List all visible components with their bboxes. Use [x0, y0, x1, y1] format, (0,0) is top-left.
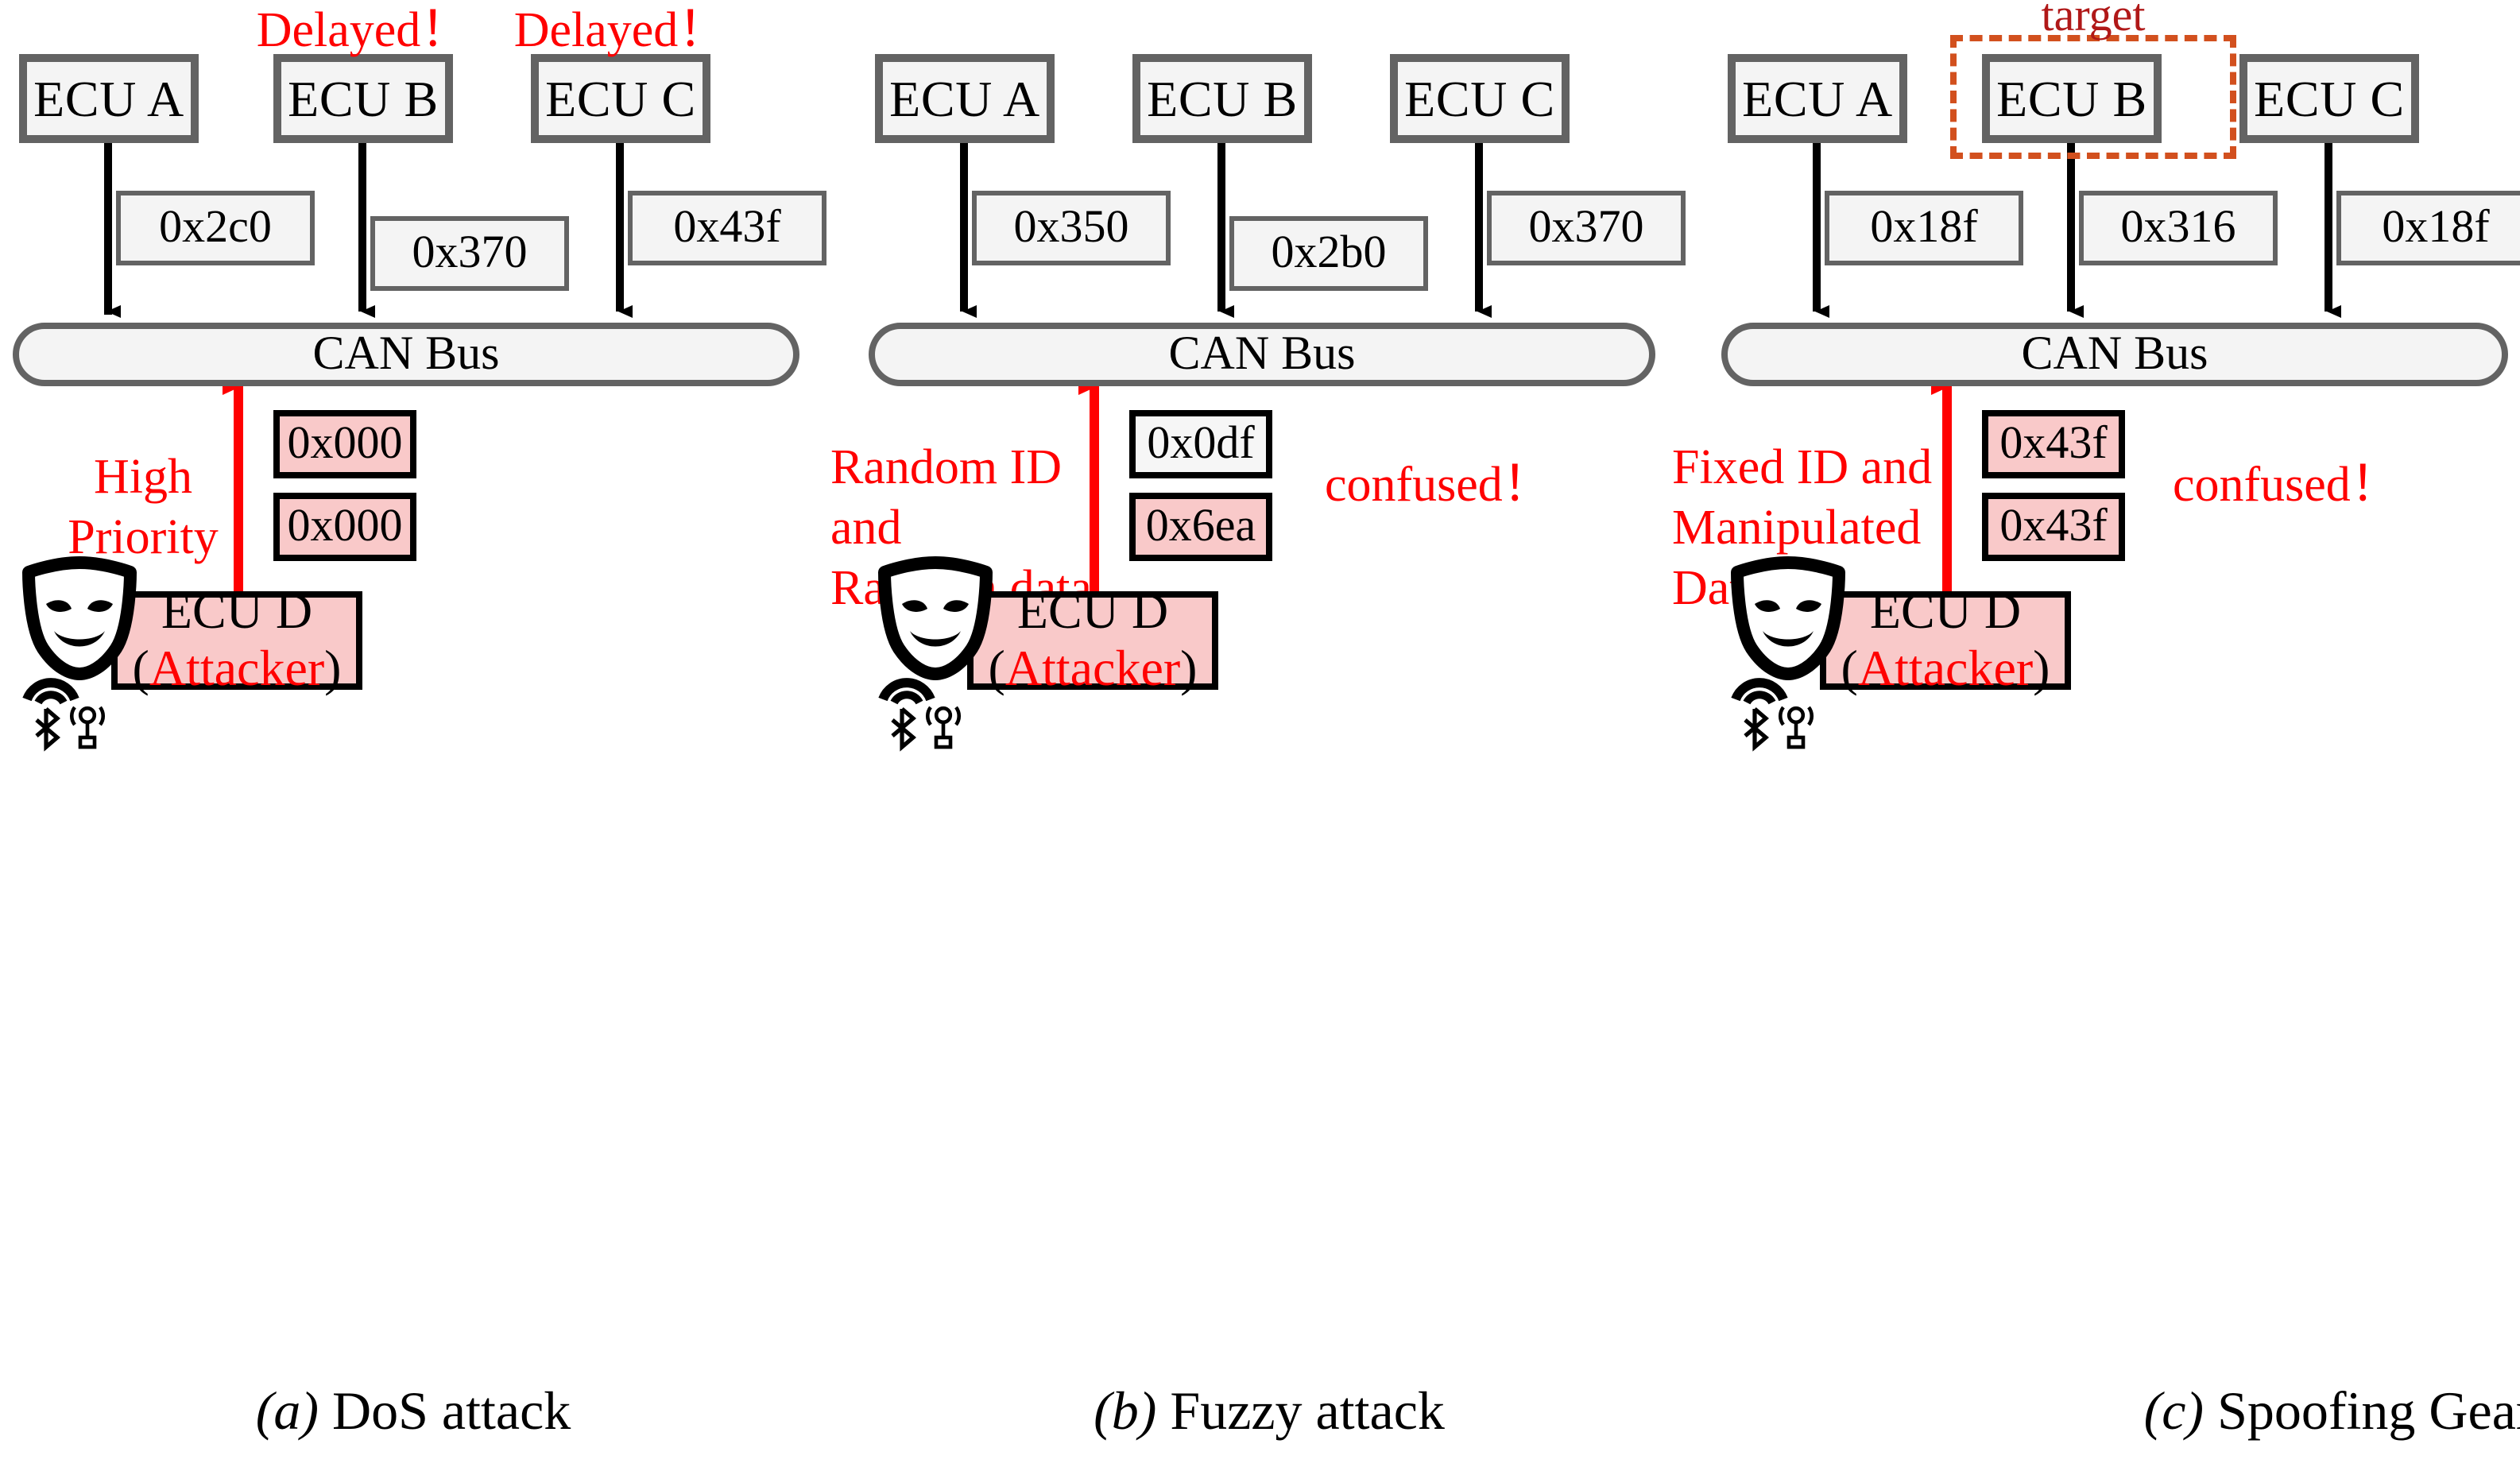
injected-message-1: 0x43f — [1982, 410, 2125, 478]
ecu-label: ECU A — [889, 73, 1040, 124]
ecu-box-b[interactable]: ECU B — [1982, 54, 2162, 143]
ecu-box-b[interactable]: ECU B — [273, 54, 453, 143]
attacker-role: (Attacker) — [989, 641, 1198, 698]
attacker-name: ECU D — [161, 583, 312, 641]
caption-text: Fuzzy attack — [1170, 1383, 1445, 1442]
attacker-ecu-box[interactable]: ECU D (Attacker) — [967, 591, 1218, 690]
message-id-box-a: 0x350 — [972, 191, 1171, 265]
panel-spoofing-attack: target ECU A ECU B ECU C 0x18f 0x316 0x1… — [1680, 0, 2520, 1467]
message-id-value: 0x370 — [412, 230, 528, 277]
ecu-box-b[interactable]: ECU B — [1132, 54, 1312, 143]
ecu-box-a[interactable]: ECU A — [875, 54, 1055, 143]
message-id-value: 0x18f — [1870, 205, 1977, 251]
message-id-value: 0x370 — [1529, 205, 1644, 251]
can-bus: CAN Bus — [1721, 323, 2508, 386]
attacker-ecu-box[interactable]: ECU D (Attacker) — [1820, 591, 2071, 690]
ecu-label: ECU C — [545, 73, 696, 124]
injected-message-1: 0x0df — [1129, 410, 1272, 478]
can-bus-label: CAN Bus — [312, 327, 499, 381]
target-label: target — [1950, 0, 2236, 43]
message-id-box-b: 0x370 — [370, 216, 569, 291]
ecu-box-c[interactable]: ECU C — [2239, 54, 2419, 143]
status-delayed-b: Delayed！ — [242, 0, 485, 60]
can-bus: CAN Bus — [869, 323, 1655, 386]
message-id-value: 0x2c0 — [159, 205, 272, 251]
injected-message-2: 0x000 — [273, 493, 416, 561]
caption-text: Spoofing Gear/RPM attack — [2217, 1383, 2520, 1442]
message-id-box-a: 0x18f — [1825, 191, 2023, 265]
attack-note: High Priority — [32, 447, 254, 567]
message-id-box-a: 0x2c0 — [116, 191, 315, 265]
ecu-label: ECU B — [1147, 73, 1298, 124]
caption-letter: (c) — [2144, 1383, 2205, 1442]
attack-effect: confused！ — [1325, 455, 1643, 515]
figure-canvas: ECU A ECU B ECU C Delayed！ Delayed！ 0x2c… — [0, 0, 2520, 733]
can-bus: CAN Bus — [13, 323, 799, 386]
injected-value: 0x000 — [288, 421, 403, 467]
message-id-value: 0x350 — [1014, 205, 1129, 251]
ecu-label: ECU C — [1404, 73, 1555, 124]
panel-dos-attack: ECU A ECU B ECU C Delayed！ Delayed！ 0x2c… — [0, 0, 840, 1467]
message-id-value: 0x316 — [2121, 205, 2236, 251]
injected-value: 0x43f — [1999, 421, 2107, 467]
attack-effect: confused！ — [2173, 455, 2491, 515]
message-id-box-b: 0x316 — [2079, 191, 2278, 265]
ecu-box-c[interactable]: ECU C — [531, 54, 710, 143]
ecu-label: ECU C — [2254, 73, 2405, 124]
message-id-box-b: 0x2b0 — [1229, 216, 1428, 291]
injected-message-2: 0x6ea — [1129, 493, 1272, 561]
injected-value: 0x0df — [1147, 421, 1254, 467]
panel-caption: (c) Spoofing Gear/RPM attack — [1680, 1383, 2520, 1443]
ecu-box-c[interactable]: ECU C — [1390, 54, 1570, 143]
ecu-box-a[interactable]: ECU A — [19, 54, 199, 143]
message-id-value: 0x2b0 — [1272, 230, 1387, 277]
caption-letter: (b) — [1094, 1383, 1156, 1442]
attacker-role: (Attacker) — [133, 641, 342, 698]
attacker-name: ECU D — [1870, 583, 2021, 641]
ecu-box-a[interactable]: ECU A — [1728, 54, 1907, 143]
status-delayed-c: Delayed！ — [499, 0, 742, 60]
can-bus-label: CAN Bus — [2021, 327, 2208, 381]
message-id-box-c: 0x43f — [628, 191, 826, 265]
message-id-box-c: 0x18f — [2336, 191, 2520, 265]
message-id-value: 0x18f — [2382, 205, 2489, 251]
caption-letter: (a) — [256, 1383, 319, 1442]
ecu-label: ECU A — [1742, 73, 1893, 124]
message-id-box-c: 0x370 — [1487, 191, 1686, 265]
attacker-ecu-box[interactable]: ECU D (Attacker) — [111, 591, 362, 690]
attacker-name: ECU D — [1017, 583, 1168, 641]
attacker-role: (Attacker) — [1841, 641, 2050, 698]
injected-value: 0x6ea — [1146, 504, 1256, 550]
injected-value: 0x43f — [1999, 504, 2107, 550]
panel-caption: (b) Fuzzy attack — [856, 1383, 1682, 1443]
panel-caption: (a) DoS attack — [0, 1383, 826, 1443]
ecu-label: ECU B — [1996, 73, 2147, 124]
panel-fuzzy-attack: ECU A ECU B ECU C 0x350 0x2b0 0x370 CAN … — [840, 0, 1680, 1467]
injected-value: 0x000 — [288, 504, 403, 550]
can-bus-label: CAN Bus — [1168, 327, 1355, 381]
injected-message-2: 0x43f — [1982, 493, 2125, 561]
message-id-value: 0x43f — [673, 205, 780, 251]
ecu-label: ECU A — [33, 73, 184, 124]
ecu-label: ECU B — [288, 73, 439, 124]
caption-text: DoS attack — [332, 1383, 571, 1442]
injected-message-1: 0x000 — [273, 410, 416, 478]
